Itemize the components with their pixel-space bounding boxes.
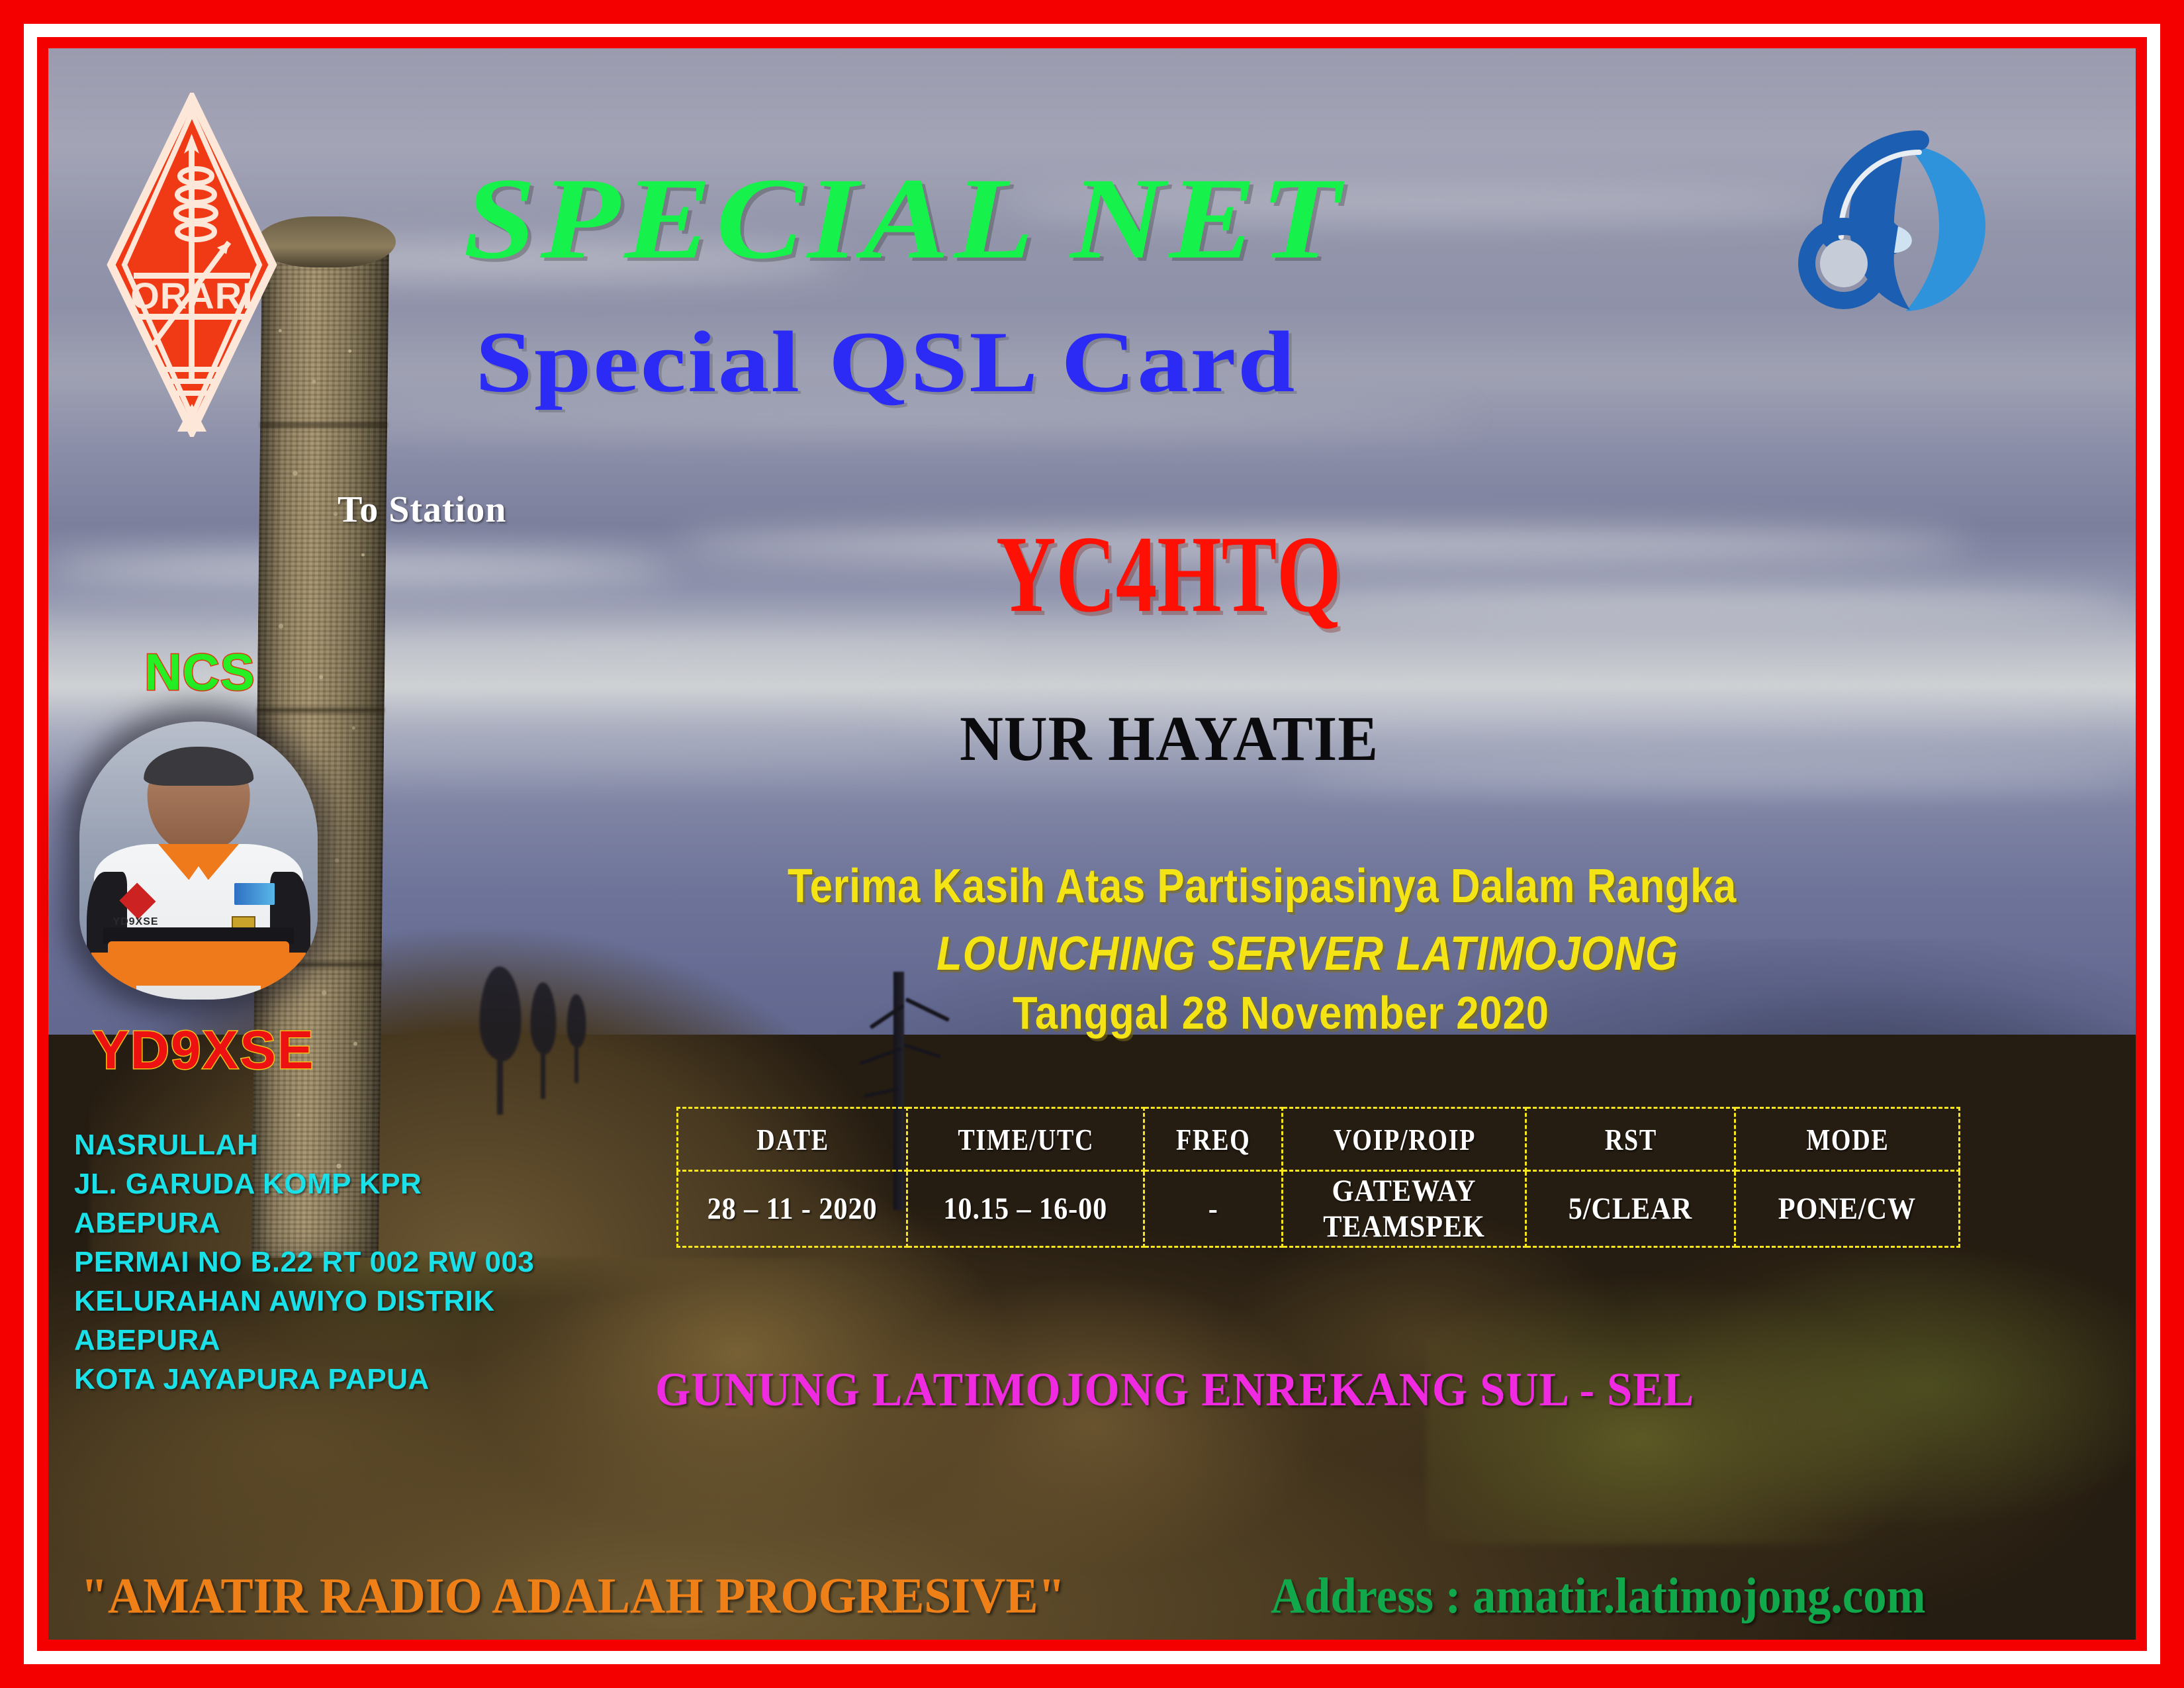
cell-mode: PONE/CW: [1735, 1171, 1960, 1247]
column-header-freq: FREQ: [1150, 1108, 1277, 1171]
address-line: PERMAI NO B.22 RT 002 RW 003: [74, 1243, 534, 1282]
column-header-date: DATE: [686, 1108, 897, 1171]
qso-details-table: DATE TIME/UTC FREQ VOIP/ROIP RST MODE 28…: [676, 1107, 1960, 1248]
ncs-operator-photo: YD9XSE: [79, 722, 318, 1000]
qsl-card: ORARI: [0, 0, 2184, 1688]
tree-silhouette: [541, 1047, 545, 1099]
page-title: SPECIAL NET: [463, 152, 1345, 286]
station-callsign: YC4HTQ: [996, 512, 1341, 637]
ncs-callsign: YD9XSE: [93, 1019, 315, 1082]
column-header-time: TIME/UTC: [917, 1108, 1134, 1171]
thanks-line: Terima Kasih Atas Partisipasinya Dalam R…: [788, 859, 1737, 914]
column-header-voip: VOIP/ROIP: [1292, 1108, 1516, 1171]
tree-silhouette: [574, 1042, 578, 1083]
page-subtitle: Special QSL Card: [475, 311, 1297, 412]
event-date: Tanggal 28 November 2020: [1013, 986, 1549, 1039]
address-line: KOTA JAYAPURA PAPUA: [74, 1360, 534, 1399]
event-name: LOUNCHING SERVER LATIMOJONG: [936, 927, 1678, 981]
cell-rst: 5/CLEAR: [1526, 1171, 1735, 1247]
address-line: KELURAHAN AWIYO DISTRIK: [74, 1282, 534, 1321]
cell-freq: -: [1144, 1171, 1283, 1247]
cell-time: 10.15 – 16-00: [907, 1171, 1144, 1247]
photo-chest-callsign: YD9XSE: [113, 916, 158, 928]
website-address-line: Address : amatir.latimojong.com: [1271, 1568, 1925, 1625]
address-line: ABEPURA: [74, 1203, 534, 1243]
orari-logo-text: ORARI: [130, 275, 253, 316]
tree-silhouette: [497, 1052, 503, 1115]
table-header-row: DATE TIME/UTC FREQ VOIP/ROIP RST MODE: [678, 1108, 1960, 1171]
ncs-address-block: NASRULLAH JL. GARUDA KOMP KPR ABEPURA PE…: [74, 1125, 534, 1399]
address-line: ABEPURA: [74, 1321, 534, 1360]
table-row: 28 – 11 - 2020 10.15 – 16-00 - GATEWAY T…: [678, 1171, 1960, 1247]
address-line: JL. GARUDA KOMP KPR: [74, 1164, 534, 1203]
column-header-rst: RST: [1534, 1108, 1727, 1171]
location-line: GUNUNG LATIMOJONG ENREKANG SUL - SEL: [655, 1362, 1694, 1417]
column-header-mode: MODE: [1744, 1108, 1950, 1171]
motto-line: "AMATIR RADIO ADALAH PROGRESIVE": [81, 1568, 1065, 1625]
cell-date: 28 – 11 - 2020: [678, 1171, 907, 1247]
address-line: NASRULLAH: [74, 1125, 534, 1164]
orari-logo: ORARI: [106, 93, 278, 437]
operator-name: NUR HAYATIE: [960, 702, 1379, 775]
cell-voip: GATEWAY TEAMSPEK: [1283, 1171, 1526, 1247]
voip-headset-face-logo: [1787, 106, 2052, 344]
to-station-label: To Station: [338, 489, 506, 531]
ncs-label: NCS: [144, 642, 255, 702]
